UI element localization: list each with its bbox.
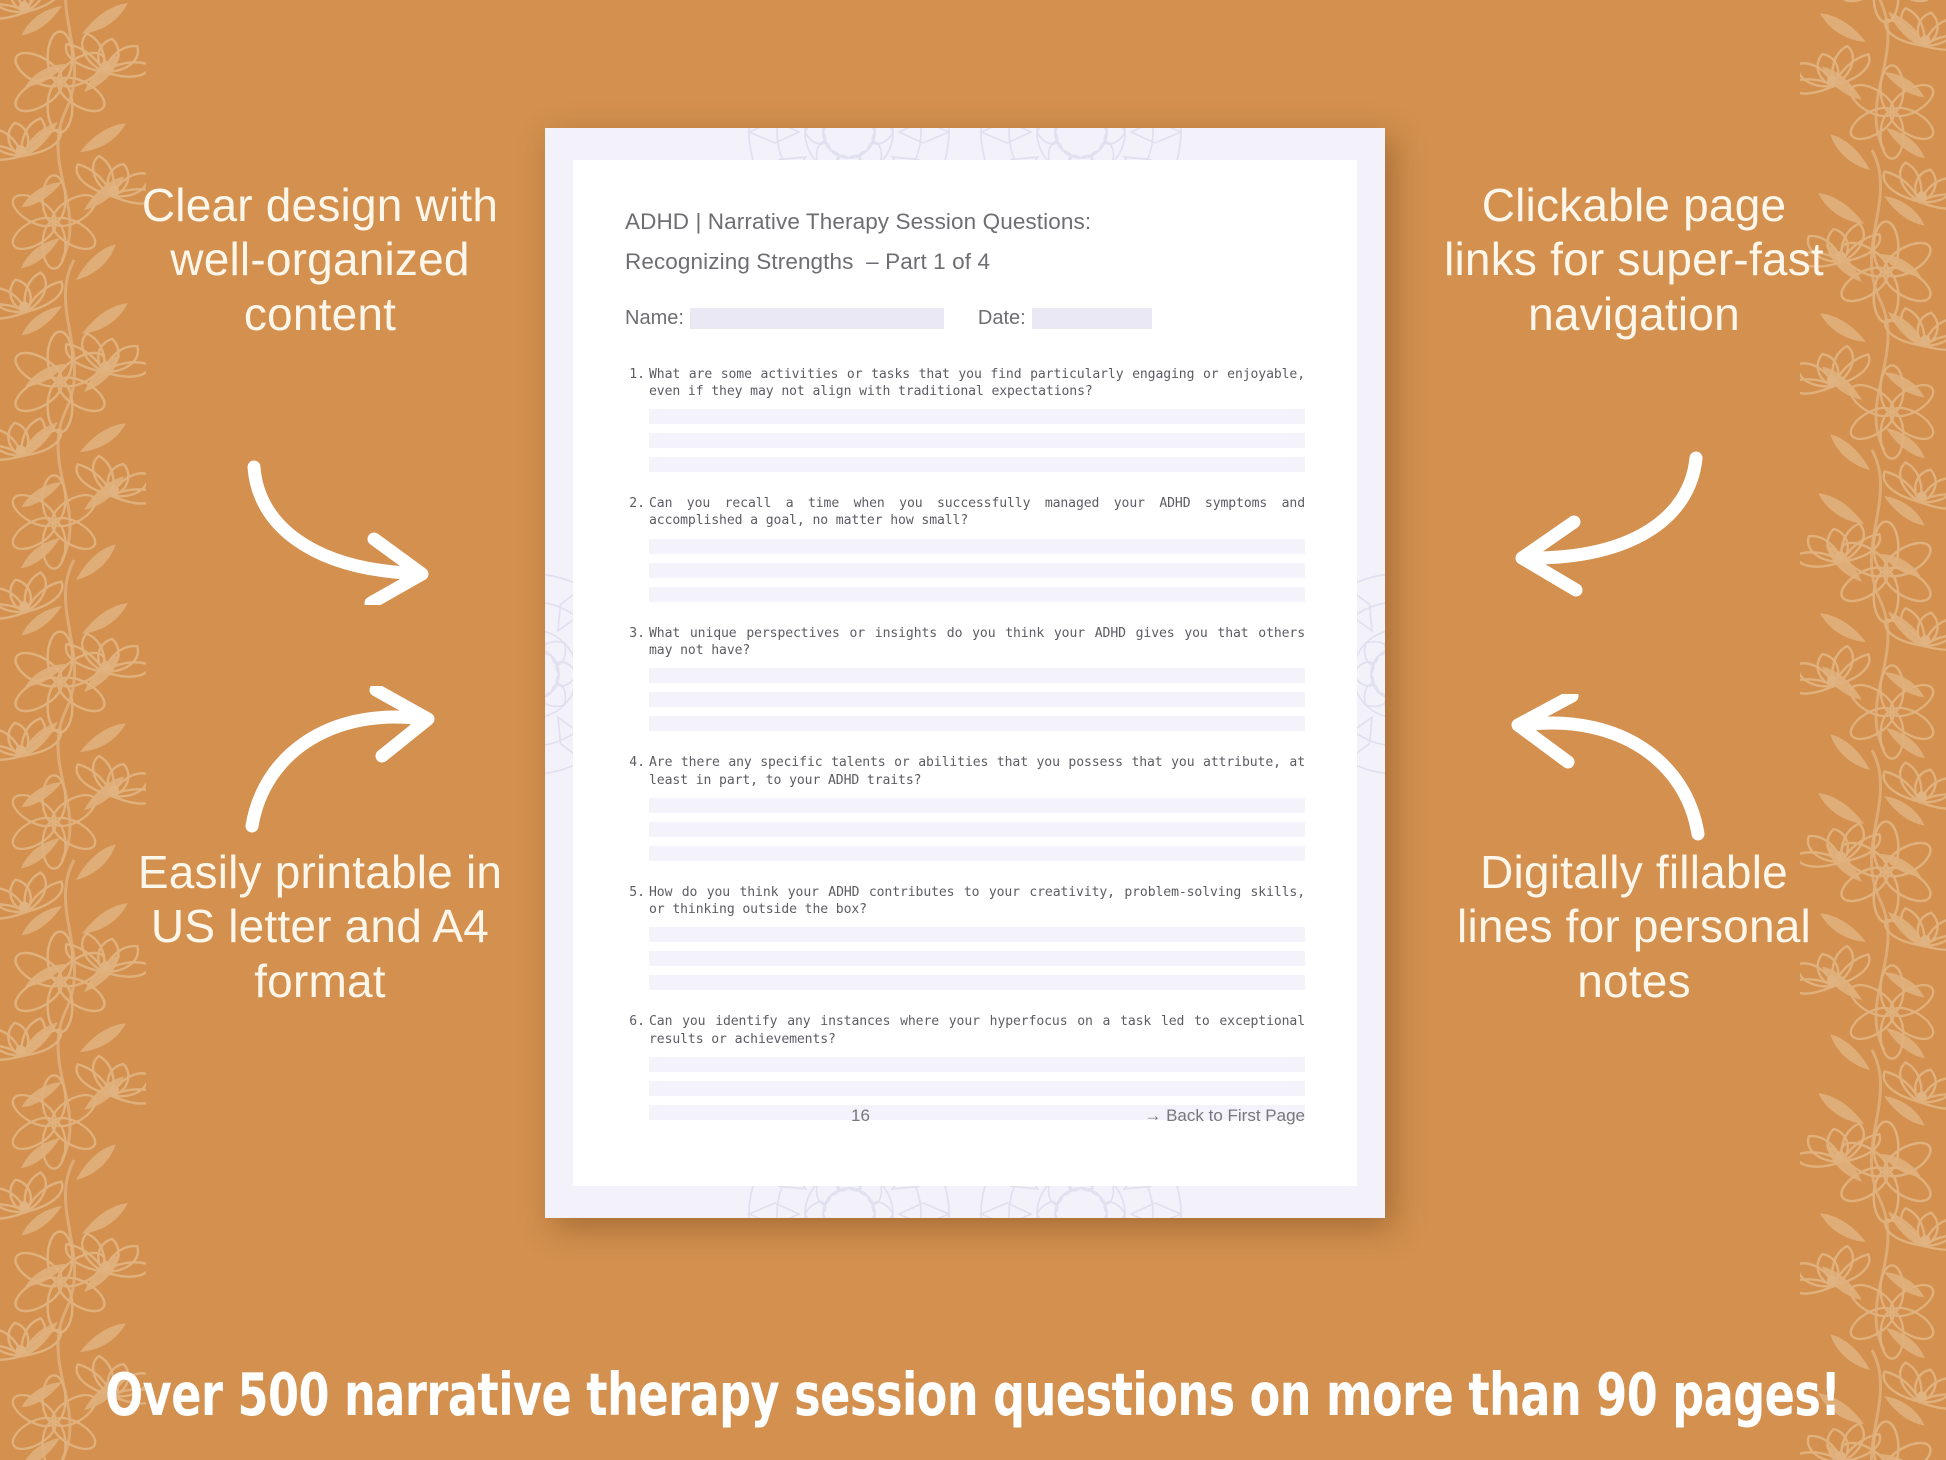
name-date-row: Name: Date: — [625, 307, 1305, 330]
promo-text-fillable-lines: Digitally fillable lines for personal no… — [1434, 845, 1834, 1008]
worksheet-title-line-1: ADHD | Narrative Therapy Session Questio… — [625, 208, 1305, 237]
question-block: 4. Are there any specific talents or abi… — [625, 754, 1305, 861]
promo-graphic: Clear design with well-organized content… — [0, 0, 1946, 1460]
question-number: 4. — [625, 754, 649, 789]
answer-line[interactable] — [649, 846, 1305, 861]
question-text: What unique perspectives or insights do … — [649, 625, 1305, 660]
bottom-banner: Over 500 narrative therapy session quest… — [0, 1328, 1946, 1460]
date-input[interactable] — [1032, 308, 1152, 329]
worksheet-title-line-2: Recognizing Strengths – Part 1 of 4 — [625, 248, 1305, 277]
question-text: Can you recall a time when you successfu… — [649, 495, 1305, 530]
worksheet-page: ADHD | Narrative Therapy Session Questio… — [545, 128, 1385, 1218]
answer-line[interactable] — [649, 539, 1305, 554]
curved-arrow-down-left-icon — [1482, 448, 1714, 603]
question-block: 1. What are some activities or tasks tha… — [625, 366, 1305, 473]
answer-line[interactable] — [649, 668, 1305, 683]
answer-lines — [649, 668, 1305, 731]
back-to-first-page-link[interactable]: → Back to First Page — [1144, 1106, 1305, 1126]
question-text: How do you think your ADHD contributes t… — [649, 884, 1305, 919]
answer-line[interactable] — [649, 716, 1305, 731]
answer-line[interactable] — [649, 1081, 1305, 1096]
answer-line[interactable] — [649, 927, 1305, 942]
answer-lines — [649, 927, 1305, 990]
question-block: 3. What unique perspectives or insights … — [625, 625, 1305, 732]
name-input[interactable] — [690, 308, 944, 329]
answer-line[interactable] — [649, 433, 1305, 448]
name-label: Name: — [625, 307, 684, 330]
answer-line[interactable] — [649, 1057, 1305, 1072]
promo-text-printable: Easily printable in US letter and A4 for… — [120, 845, 520, 1008]
question-block: 2. Can you recall a time when you succes… — [625, 495, 1305, 602]
curved-arrow-down-right-icon — [238, 455, 470, 605]
answer-line[interactable] — [649, 798, 1305, 813]
answer-line[interactable] — [649, 563, 1305, 578]
question-block: 5. How do you think your ADHD contribute… — [625, 884, 1305, 991]
curved-arrow-up-right-icon — [238, 686, 470, 836]
page-footer: 16 → Back to First Page — [625, 1106, 1305, 1126]
banner-headline: Over 500 narrative therapy session quest… — [105, 1360, 1840, 1429]
promo-text-clear-design: Clear design with well-organized content — [120, 178, 520, 341]
worksheet-sheet: ADHD | Narrative Therapy Session Questio… — [573, 160, 1357, 1186]
answer-lines — [649, 798, 1305, 861]
answer-lines — [649, 409, 1305, 472]
answer-line[interactable] — [649, 692, 1305, 707]
answer-line[interactable] — [649, 587, 1305, 602]
answer-line[interactable] — [649, 822, 1305, 837]
page-number: 16 — [851, 1106, 870, 1126]
question-block: 6. Can you identify any instances where … — [625, 1013, 1305, 1120]
question-text: Are there any specific talents or abilit… — [649, 754, 1305, 789]
question-number: 3. — [625, 625, 649, 660]
question-number: 5. — [625, 884, 649, 919]
answer-line[interactable] — [649, 457, 1305, 472]
date-label: Date: — [978, 307, 1026, 330]
promo-text-clickable-links: Clickable page links for super-fast navi… — [1434, 178, 1834, 341]
question-text: What are some activities or tasks that y… — [649, 366, 1305, 401]
answer-line[interactable] — [649, 951, 1305, 966]
curved-arrow-up-left-icon — [1482, 694, 1714, 844]
answer-line[interactable] — [649, 409, 1305, 424]
question-text: Can you identify any instances where you… — [649, 1013, 1305, 1048]
question-number: 1. — [625, 366, 649, 401]
answer-lines — [649, 539, 1305, 602]
questions-list: 1. What are some activities or tasks tha… — [625, 366, 1305, 1120]
answer-line[interactable] — [649, 975, 1305, 990]
question-number: 6. — [625, 1013, 649, 1048]
question-number: 2. — [625, 495, 649, 530]
